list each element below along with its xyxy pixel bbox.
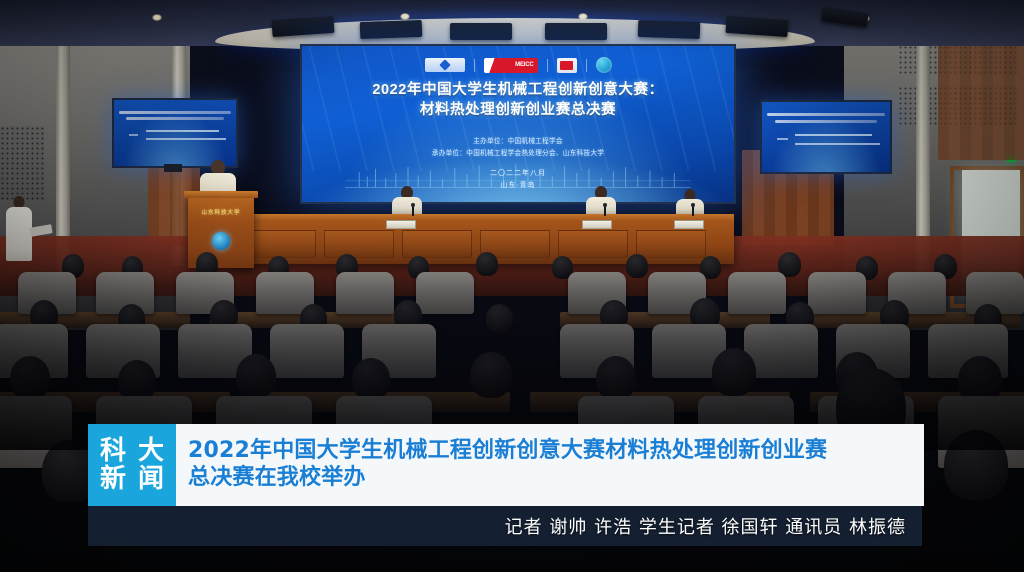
brand-char-1: 科 xyxy=(96,437,130,465)
headline-line-1: 2022年中国大学生机械工程创新创意大赛材料热处理创新创业赛 xyxy=(188,438,914,465)
audience-seat xyxy=(728,272,786,314)
led-organizer-line1: 主办单位：中国机械工程学会 xyxy=(302,136,734,148)
table-nameplate xyxy=(386,220,416,229)
cyan-circle-logo xyxy=(596,57,612,73)
ceiling-light-fixture xyxy=(638,20,701,39)
credits-bar: 记者 谢帅 许浩 学生记者 徐国轩 通讯员 林振德 xyxy=(88,506,922,546)
headline-panel: 2022年中国大学生机械工程创新创意大赛材料热处理创新创业赛 总决赛在我校举办 xyxy=(176,424,924,506)
table-microphone xyxy=(412,206,414,216)
left-wall-monitor xyxy=(112,98,238,168)
logo-divider xyxy=(547,59,548,72)
meicc-badge-logo: MEICC xyxy=(484,58,538,73)
podium-label: 山东科技大学 xyxy=(188,208,254,216)
led-title-line2: 材料热处理创新创业赛总决赛 xyxy=(302,100,734,120)
audience-seat xyxy=(416,272,474,314)
table-front-panel xyxy=(324,230,394,258)
monitor-text-line xyxy=(146,138,227,140)
audience-head xyxy=(470,352,512,398)
logo-divider xyxy=(586,59,587,72)
table-front-panel xyxy=(636,230,706,258)
monitor-text-line xyxy=(146,130,219,132)
podium-top-edge xyxy=(184,191,258,198)
right-wall-monitor xyxy=(760,100,892,174)
table-front-panel xyxy=(558,230,628,258)
wood-wall-corner xyxy=(938,40,1024,160)
audience-head xyxy=(486,304,513,333)
downlight-icon xyxy=(152,14,162,21)
monitor-text-line xyxy=(775,120,877,123)
led-organizer-line2: 承办单位：中国机械工程学会热处理分会、山东科技大学 xyxy=(302,148,734,160)
monitor-text-line xyxy=(119,111,231,114)
led-title-line1: 2022年中国大学生机械工程创新创意大赛： xyxy=(302,80,734,100)
credits-text: 记者 谢帅 许浩 学生记者 徐国轩 通讯员 林振德 xyxy=(505,513,906,539)
red-square-logo xyxy=(557,58,577,73)
audience-head xyxy=(596,356,636,400)
university-emblem xyxy=(212,232,230,250)
audience-seat xyxy=(808,272,866,314)
audience-head xyxy=(10,356,50,400)
audience-head xyxy=(476,252,498,276)
standing-attendant xyxy=(6,196,32,260)
led-logo-row: MEICC xyxy=(302,57,734,73)
brand-char-4: 闻 xyxy=(134,465,168,493)
brand-char-3: 新 xyxy=(96,465,130,493)
table-microphone xyxy=(604,206,606,216)
headline-line-2: 总决赛在我校举办 xyxy=(188,465,914,492)
downlight-icon xyxy=(578,13,588,20)
audience-head xyxy=(626,254,648,278)
audience-head xyxy=(944,430,1008,500)
monitor-text-line xyxy=(126,117,224,120)
person-torso xyxy=(6,207,32,261)
audience-seat xyxy=(336,272,394,314)
monitor-text-line xyxy=(767,113,885,116)
brand-char-2: 大 xyxy=(134,437,168,465)
monitor-text-line xyxy=(795,134,872,136)
screenshot-root: MEICC 2022年中国大学生机械工程创新创意大赛： 材料热处理创新创业赛总决… xyxy=(0,0,1024,572)
led-title-block: 2022年中国大学生机械工程创新创意大赛： 材料热处理创新创业赛总决赛 xyxy=(302,80,734,120)
table-front-panel xyxy=(402,230,472,258)
main-led-screen: MEICC 2022年中国大学生机械工程创新创意大赛： 材料热处理创新创业赛总决… xyxy=(300,44,736,204)
table-top-edge xyxy=(236,214,734,222)
ceiling-light-fixture xyxy=(360,20,423,39)
association-emblem-logo xyxy=(425,58,465,72)
monitor-screen-content xyxy=(114,100,236,166)
monitor-text-line xyxy=(129,134,139,136)
left-monitor-stand xyxy=(164,164,182,172)
audience-head xyxy=(712,348,756,396)
table-nameplate xyxy=(582,220,612,229)
table-nameplate xyxy=(674,220,704,229)
ceiling-light-fixture xyxy=(545,23,607,40)
downlight-icon xyxy=(400,13,410,20)
led-organizer-block: 主办单位：中国机械工程学会 承办单位：中国机械工程学会热处理分会、山东科技大学 xyxy=(302,136,734,159)
table-microphone xyxy=(692,206,694,216)
monitor-text-line xyxy=(795,143,880,145)
ceiling-light-fixture xyxy=(450,23,512,40)
audience-seat xyxy=(270,324,344,378)
channel-brand-block: 科 大 新 闻 xyxy=(88,424,176,506)
audience-head xyxy=(236,354,276,398)
audience-head xyxy=(352,358,390,400)
lower-third-banner: 科 大 新 闻 2022年中国大学生机械工程创新创意大赛材料热处理创新创业赛 总… xyxy=(88,424,924,506)
table-front-panel xyxy=(246,230,316,258)
led-date-line: 二〇二二年八月 xyxy=(302,168,734,180)
led-place-line: 山东·青岛 xyxy=(302,180,734,192)
led-date-block: 二〇二二年八月 山东·青岛 xyxy=(302,168,734,192)
monitor-text-line xyxy=(777,138,787,140)
logo-divider xyxy=(474,59,475,72)
